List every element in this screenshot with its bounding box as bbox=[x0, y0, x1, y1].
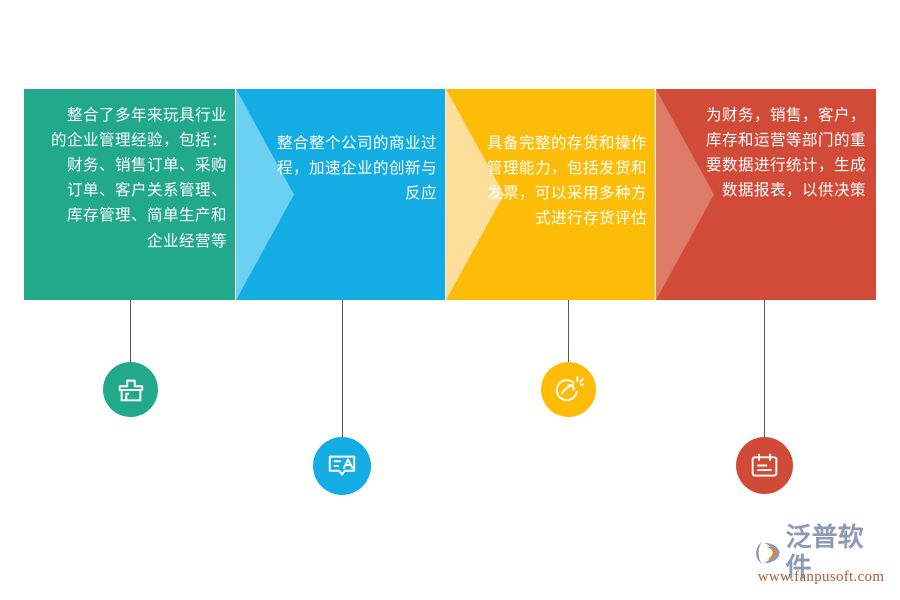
calendar-report-icon[interactable] bbox=[736, 437, 793, 494]
connector-line-3 bbox=[568, 300, 569, 362]
info-panel-2-text: 整合整个公司的商业过 程，加速企业的创新与 反应 bbox=[236, 131, 445, 206]
connector-line-2 bbox=[342, 300, 343, 437]
calendar-report-icon-glyph bbox=[749, 450, 780, 481]
info-panel-4-text: 为财务，销售，客户， 库存和运营等部门的重 要数据进行统计，生成 数据报表，以供… bbox=[656, 103, 876, 203]
infographic-canvas: 整合了多年来玩具行业 的企业管理经验，包括： 财务、销售订单、采购 订单、客户关… bbox=[0, 0, 900, 600]
brand-logo-top: 泛普软件 bbox=[755, 536, 885, 570]
connector-line-1 bbox=[130, 300, 131, 362]
brand-url: www.fanpusoft.com bbox=[755, 569, 887, 586]
store-icon[interactable] bbox=[103, 362, 158, 417]
translate-chat-icon-glyph bbox=[326, 450, 358, 482]
info-panel-1-text: 整合了多年来玩具行业 的企业管理经验，包括： 财务、销售订单、采购 订单、客户关… bbox=[24, 103, 235, 254]
banner-row: 整合了多年来玩具行业 的企业管理经验，包括： 财务、销售订单、采购 订单、客户关… bbox=[24, 89, 876, 300]
info-panel-2[interactable]: 整合整个公司的商业过 程，加速企业的创新与 反应 bbox=[236, 89, 445, 300]
info-panel-3[interactable]: 具备完整的存货和操作 管理能力，包括发货和 发票，可以采用多种方 式进行存货评估 bbox=[446, 89, 655, 300]
translate-chat-icon[interactable] bbox=[313, 437, 371, 495]
growth-arrow-icon[interactable] bbox=[541, 362, 596, 417]
brand-logo[interactable]: 泛普软件 www.fanpusoft.com bbox=[755, 536, 885, 588]
info-panel-4[interactable]: 为财务，销售，客户， 库存和运营等部门的重 要数据进行统计，生成 数据报表，以供… bbox=[656, 89, 876, 300]
store-icon-glyph bbox=[116, 375, 146, 405]
fanpu-logo-mark-icon bbox=[755, 538, 784, 568]
info-panel-1[interactable]: 整合了多年来玩具行业 的企业管理经验，包括： 财务、销售订单、采购 订单、客户关… bbox=[24, 89, 235, 300]
growth-arrow-icon-glyph bbox=[553, 374, 584, 405]
connector-line-4 bbox=[764, 300, 765, 437]
info-panel-3-text: 具备完整的存货和操作 管理能力，包括发货和 发票，可以采用多种方 式进行存货评估 bbox=[446, 131, 655, 231]
